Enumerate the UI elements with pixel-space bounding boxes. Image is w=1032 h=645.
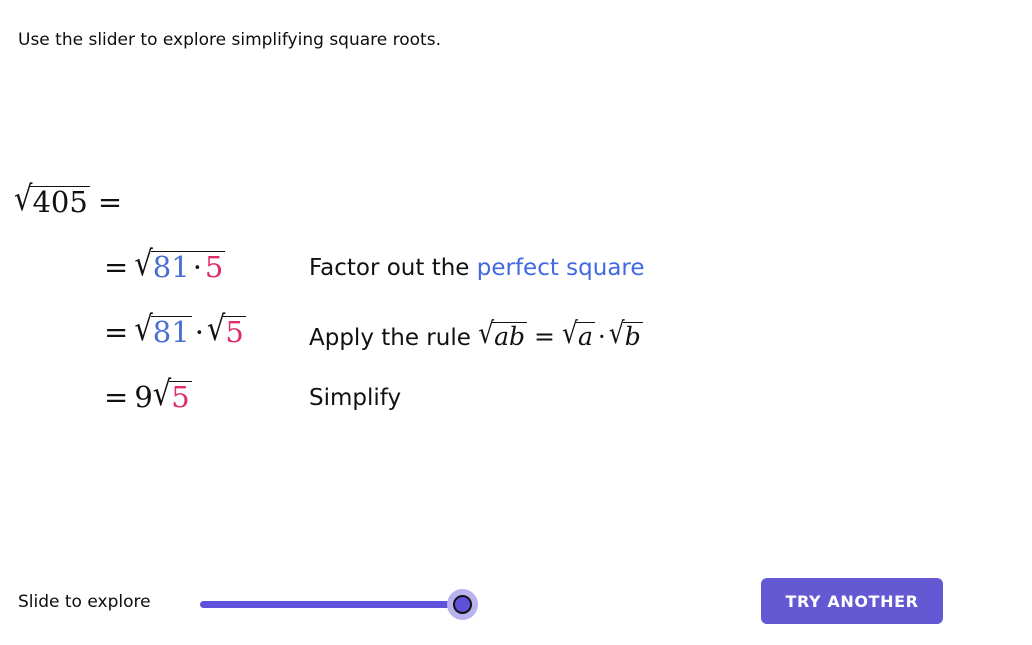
equation-line-3: =√81·√5 Apply the rule √ab=√a·√b	[0, 316, 1032, 381]
instruction-text: Use the slider to explore simplifying sq…	[18, 30, 441, 50]
slider-thumb[interactable]	[453, 595, 472, 614]
radical-icon: √	[14, 182, 32, 216]
rule-operand-b: b	[623, 322, 643, 349]
radical-icon: √	[134, 312, 152, 346]
radical-icon: √	[478, 318, 494, 348]
rule-operand-a: a	[576, 322, 595, 349]
remaining-factor: 5	[223, 316, 245, 347]
equals-sign: =	[104, 315, 128, 349]
note-prefix: Factor out the	[309, 255, 477, 281]
slider-track[interactable]	[200, 601, 463, 608]
sqrt-b: √b	[609, 322, 643, 349]
equals-sign: =	[104, 380, 128, 414]
explore-slider[interactable]	[200, 589, 480, 621]
slider-label: Slide to explore	[18, 592, 151, 612]
radical-icon: √	[134, 247, 152, 281]
radical-icon: √	[562, 318, 578, 348]
equation-line-2: =√81·5 Factor out the perfect square	[0, 251, 1032, 316]
equation-line-2-math: =√81·5	[104, 251, 225, 282]
sqrt-product-rule: √ab=√a·√b	[478, 322, 643, 351]
radical-icon: √	[153, 377, 171, 411]
sqrt-5: √5	[153, 381, 192, 412]
equation-line-4-math: =9√5	[104, 381, 192, 412]
equation-line-4-note: Simplify	[309, 387, 401, 410]
radical-icon: √	[207, 312, 225, 346]
remaining-factor: 5	[169, 381, 191, 412]
remaining-factor: 5	[205, 250, 223, 284]
sqrt-a: √a	[562, 322, 595, 349]
equation-line-1-math: √405=	[14, 186, 128, 217]
simplified-coefficient: 9	[134, 380, 152, 414]
radical-icon: √	[609, 318, 625, 348]
multiplication-dot: ·	[190, 250, 205, 284]
perfect-square-factor: 81	[151, 316, 192, 347]
rule-equals-sign: =	[527, 322, 562, 351]
equals-sign: =	[98, 185, 122, 219]
equation-line-1: √405=	[0, 186, 1032, 251]
equals-sign: =	[104, 250, 128, 284]
radicand-group: 81·5	[151, 251, 226, 282]
sqrt-5: √5	[207, 316, 246, 347]
note-highlight-perfect-square: perfect square	[477, 255, 645, 281]
try-another-button[interactable]: TRY ANOTHER	[761, 578, 943, 624]
equation-line-2-note: Factor out the perfect square	[309, 257, 645, 280]
radicand-value: 405	[30, 186, 89, 217]
equation-line-4: =9√5 Simplify	[0, 381, 1032, 446]
sqrt-405: √405	[14, 186, 90, 217]
derivation-block: √405= =√81·5 Factor out the perfect squa…	[0, 186, 1032, 446]
perfect-square-factor: 81	[153, 250, 190, 284]
rule-operand-ab: ab	[492, 322, 527, 349]
multiplication-dot: ·	[192, 315, 207, 349]
sqrt-81: √81	[134, 316, 191, 347]
equation-line-3-math: =√81·√5	[104, 316, 246, 347]
equation-line-3-note: Apply the rule √ab=√a·√b	[309, 322, 643, 350]
sqrt-81-times-5: √81·5	[134, 251, 225, 282]
rule-multiplication-dot: ·	[595, 322, 609, 351]
sqrt-ab: √ab	[478, 322, 527, 349]
note-prefix: Apply the rule	[309, 325, 478, 351]
